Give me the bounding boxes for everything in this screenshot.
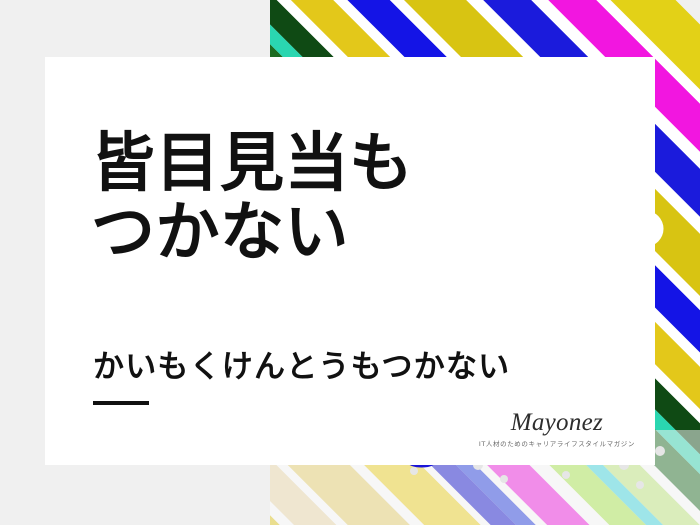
brand-lockup: Mayonez IT人材のためのキャリアライフスタイルマガジン [479, 410, 635, 448]
brand-tagline: IT人材のためのキャリアライフスタイルマガジン [479, 441, 635, 448]
title-divider [93, 401, 149, 405]
brand-name: Mayonez [479, 410, 635, 435]
title-reading-furigana: かいもくけんとうもつかない [93, 351, 510, 382]
content-card: 皆目見当も つかない かいもくけんとうもつかない Mayonez IT人材のため… [45, 57, 655, 465]
poster-canvas: 皆目見当も つかない かいもくけんとうもつかない Mayonez IT人材のため… [0, 0, 700, 525]
page-title: 皆目見当も つかない [91, 129, 611, 267]
